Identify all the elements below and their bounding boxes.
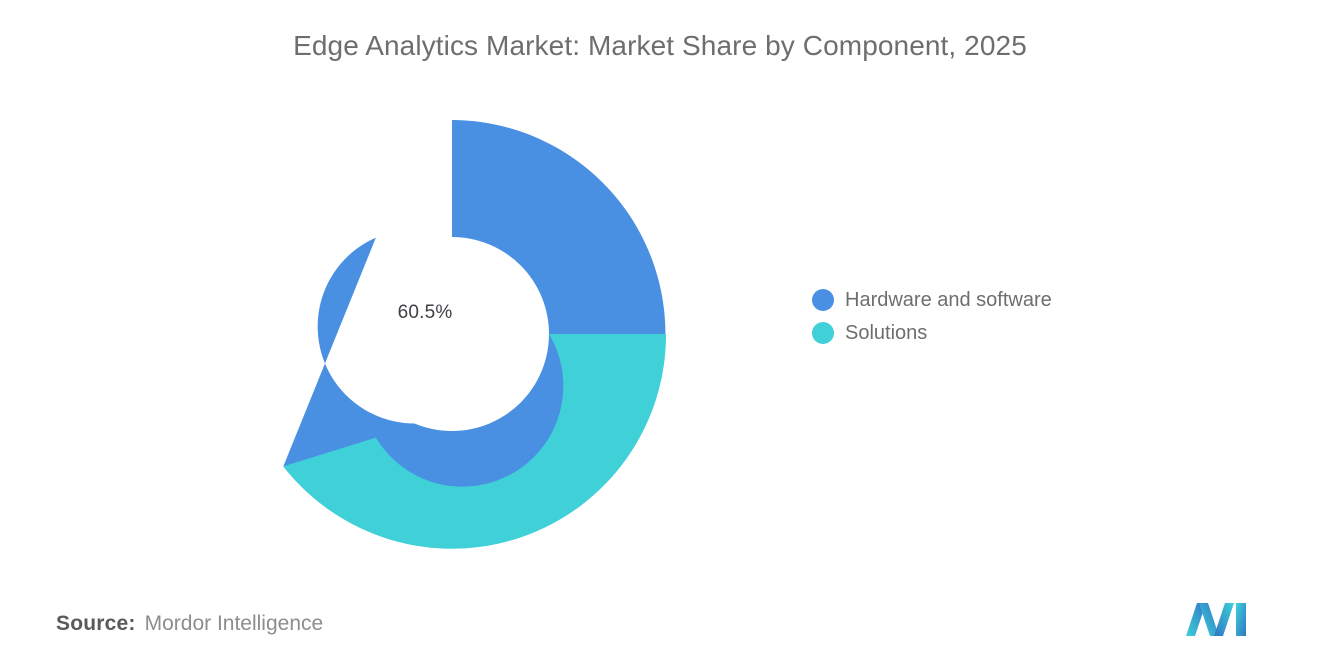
source-label: Source:	[56, 612, 136, 636]
donut-data-label-hardware-and-software: 60.5%	[380, 302, 470, 324]
source-value: Mordor Intelligence	[145, 612, 324, 636]
mordor-intelligence-logo-svg	[1184, 598, 1250, 640]
donut-chart-svg	[238, 120, 666, 548]
donut-chart: 60.5%	[238, 120, 666, 548]
legend-swatch-icon-solutions	[812, 322, 834, 344]
donut-hole	[355, 237, 549, 431]
legend-label-hardware-and-software: Hardware and software	[845, 289, 1052, 311]
chart-title: Edge Analytics Market: Market Share by C…	[0, 30, 1320, 62]
legend-label-solutions: Solutions	[845, 322, 927, 344]
source-footer: Source: Mordor Intelligence	[56, 612, 323, 636]
legend-swatch-icon-hardware-and-software	[812, 289, 834, 311]
mordor-intelligence-logo-icon	[1184, 598, 1250, 640]
legend-item-solutions[interactable]: Solutions	[812, 316, 1142, 349]
chart-legend: Hardware and software Solutions	[812, 283, 1142, 349]
legend-item-hardware-and-software[interactable]: Hardware and software	[812, 283, 1142, 316]
